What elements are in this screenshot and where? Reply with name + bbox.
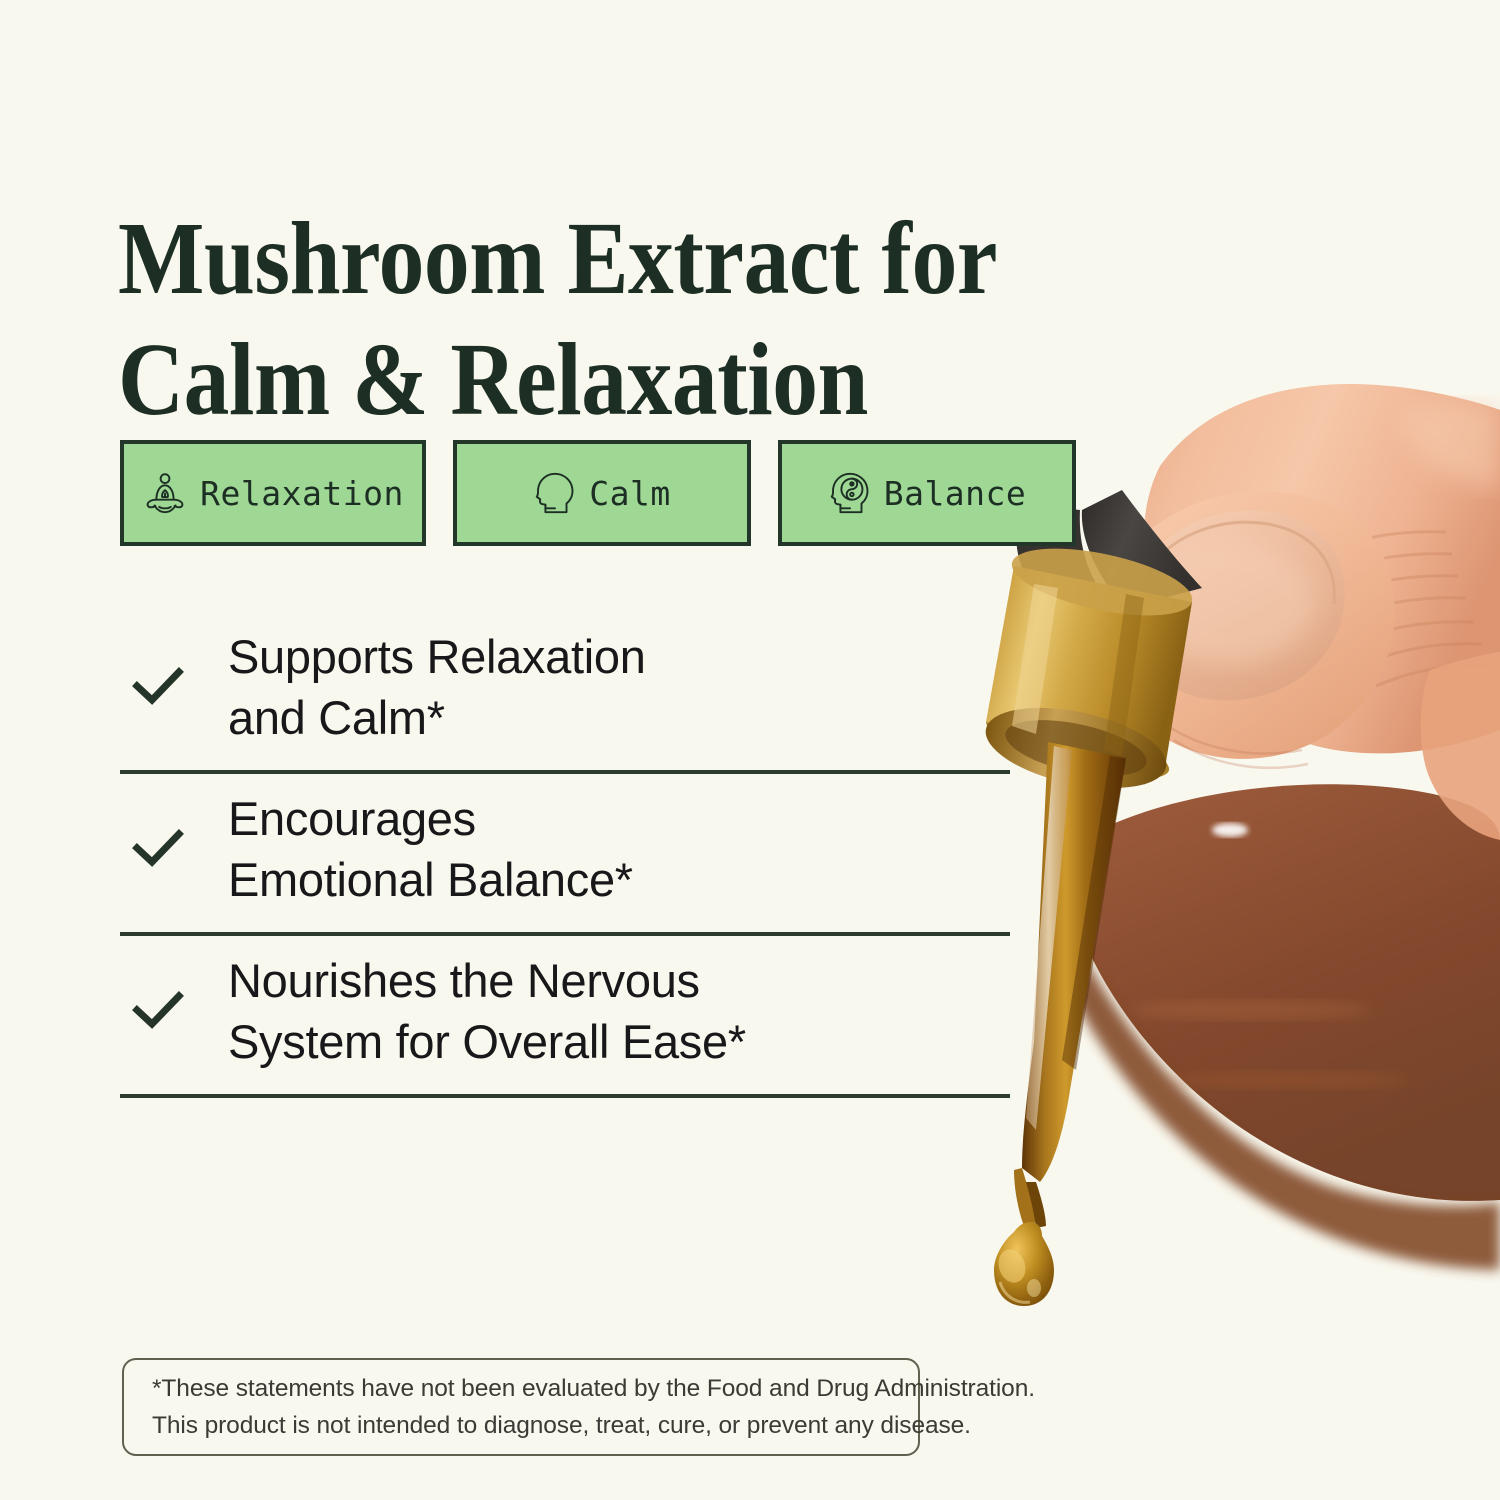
benefit-text: Encourages Emotional Balance*	[228, 788, 633, 910]
benefit-line-2: and Calm*	[228, 687, 646, 748]
badge-label-relaxation: Relaxation	[200, 474, 404, 513]
benefit-line-1: Supports Relaxation	[228, 626, 646, 687]
page-title-line-1: Mushroom Extract for	[118, 198, 1139, 320]
benefit-line-1: Encourages	[228, 788, 633, 849]
benefit-item: Encourages Emotional Balance*	[120, 774, 1010, 936]
benefit-item: Nourishes the Nervous System for Overall…	[120, 936, 1010, 1098]
check-icon-wrap	[120, 666, 228, 708]
benefit-line-2: Emotional Balance*	[228, 849, 633, 910]
head-profile-icon	[533, 470, 577, 516]
badge-balance[interactable]: Balance	[778, 440, 1076, 546]
benefits-list: Supports Relaxation and Calm* Encourages…	[120, 612, 1010, 1098]
fda-disclaimer-text: *These statements have not been evaluate…	[152, 1370, 1035, 1444]
badge-label-calm: Calm	[589, 474, 670, 513]
benefit-badge-row: Relaxation Calm Balance	[120, 440, 1076, 546]
fda-disclaimer-line-1: *These statements have not been evaluate…	[152, 1370, 1035, 1407]
benefit-text: Supports Relaxation and Calm*	[228, 626, 646, 748]
head-yin-yang-icon	[828, 470, 872, 516]
check-icon-wrap	[120, 828, 228, 870]
benefit-line-1: Nourishes the Nervous	[228, 950, 746, 1011]
check-icon	[132, 828, 184, 870]
meditation-lotus-icon	[142, 470, 188, 516]
benefit-line-2: System for Overall Ease*	[228, 1011, 746, 1072]
page-title: Mushroom Extract for Calm & Relaxation	[118, 198, 1139, 441]
fda-disclaimer-line-2: This product is not intended to diagnose…	[152, 1407, 1035, 1444]
badge-label-balance: Balance	[884, 474, 1027, 513]
page-title-line-2: Calm & Relaxation	[118, 319, 1139, 441]
check-icon-wrap	[120, 990, 228, 1032]
benefit-text: Nourishes the Nervous System for Overall…	[228, 950, 746, 1072]
check-icon	[132, 666, 184, 708]
check-icon	[132, 990, 184, 1032]
benefit-item: Supports Relaxation and Calm*	[120, 612, 1010, 774]
infographic-page: Mushroom Extract for Calm & Relaxation R…	[0, 0, 1500, 1500]
badge-relaxation[interactable]: Relaxation	[120, 440, 426, 546]
fda-disclaimer-box: *These statements have not been evaluate…	[122, 1358, 920, 1456]
badge-calm[interactable]: Calm	[453, 440, 751, 546]
